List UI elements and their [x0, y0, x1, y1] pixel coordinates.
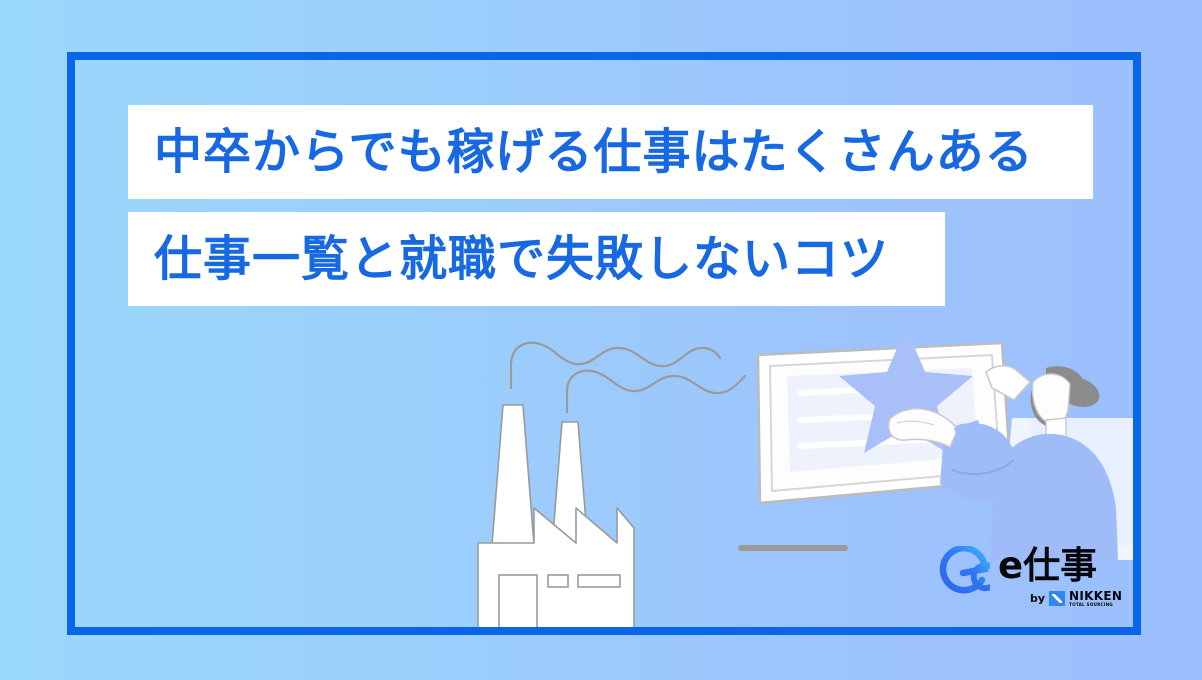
- title-line-2-text: 仕事一覧と就職で失敗しないコツ: [128, 235, 889, 283]
- nikken-tagline: TOTAL SOURCING: [1069, 603, 1122, 607]
- brand-logo: e仕事 by NIKKEN TOTAL SOURCING: [938, 544, 1124, 616]
- logo-partner-row: by NIKKEN TOTAL SOURCING: [1030, 590, 1122, 607]
- logo-by-label: by: [1030, 593, 1045, 604]
- banner-canvas: 中卒からでも稼げる仕事はたくさんある 仕事一覧と就職で失敗しないコツ e仕事 b…: [0, 0, 1202, 680]
- nikken-name: NIKKEN: [1069, 590, 1122, 602]
- nikken-tile-icon: [1049, 591, 1065, 606]
- nikken-text: NIKKEN TOTAL SOURCING: [1069, 590, 1122, 607]
- title-line-1-text: 中卒からでも稼げる仕事はたくさんある: [128, 128, 1034, 176]
- e-spiral-icon: [938, 546, 990, 598]
- title-line-2: 仕事一覧と就職で失敗しないコツ: [128, 212, 945, 306]
- title-line-1: 中卒からでも稼げる仕事はたくさんある: [128, 105, 1093, 199]
- logo-wordmark: e仕事: [998, 544, 1097, 588]
